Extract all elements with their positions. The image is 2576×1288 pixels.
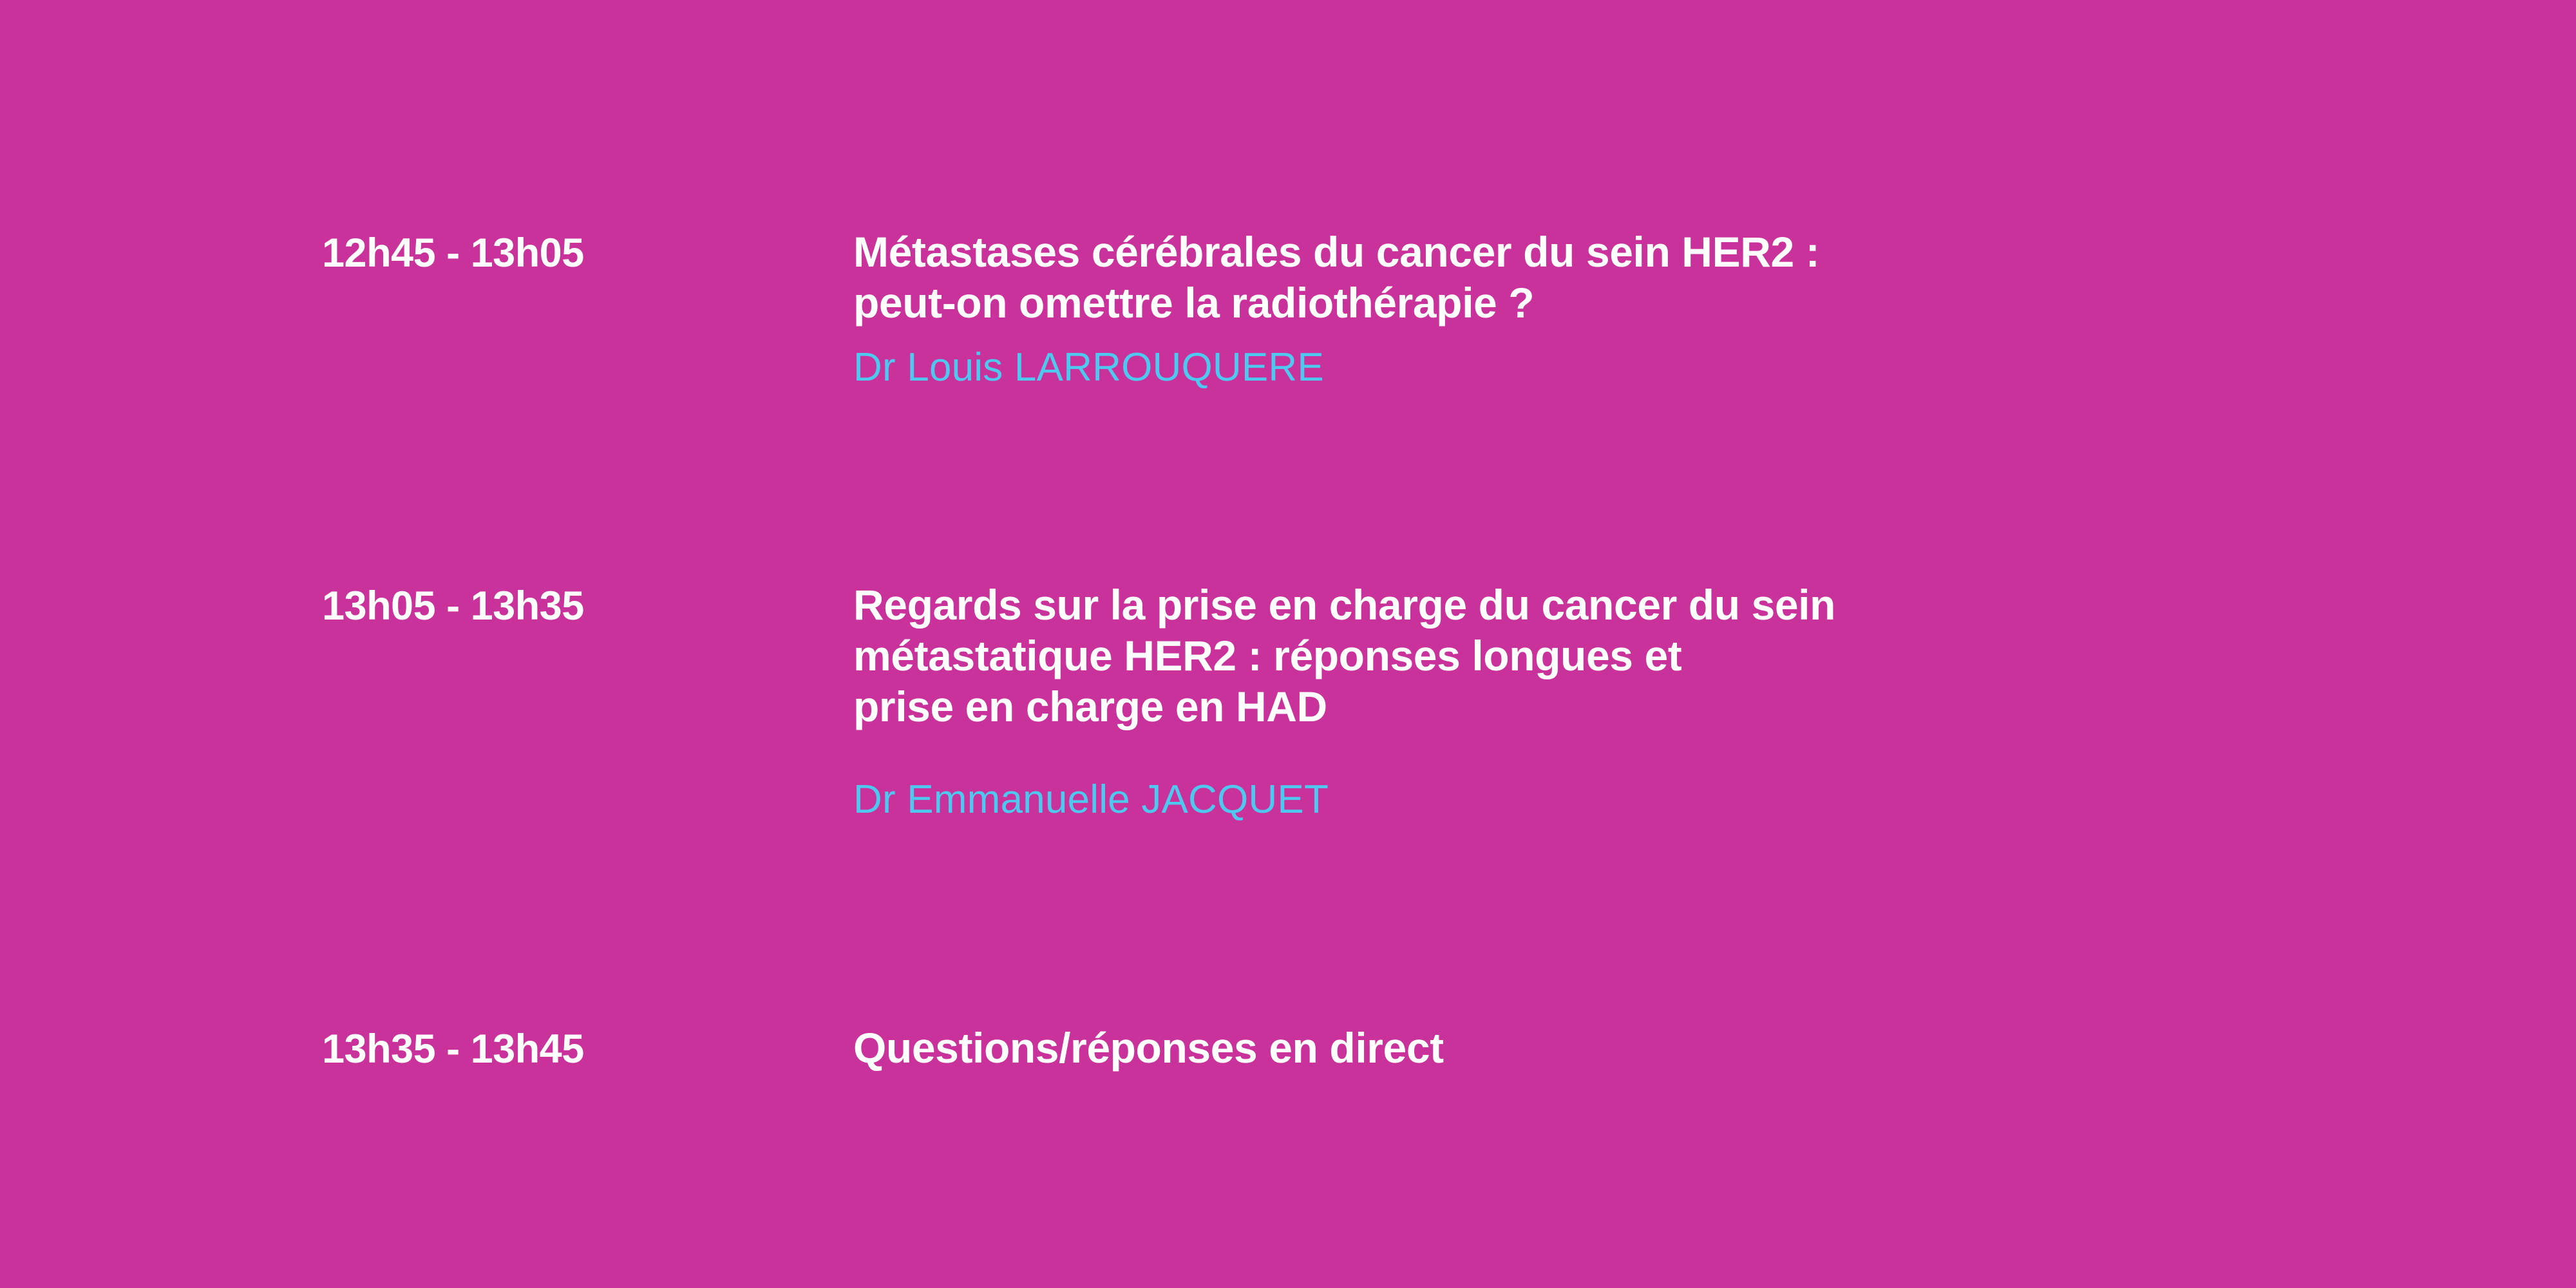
- session-time: 13h05 - 13h35: [322, 580, 853, 627]
- session-title-line: Regards sur la prise en charge du cancer…: [853, 580, 2479, 630]
- schedule-row: 13h35 - 13h45 Questions/réponses en dire…: [322, 1023, 2479, 1074]
- schedule-row: 13h05 - 13h35 Regards sur la prise en ch…: [322, 580, 2479, 820]
- session-title-line: métastatique HER2 : réponses longues et: [853, 630, 2479, 681]
- session-time: 13h35 - 13h45: [322, 1023, 853, 1070]
- schedule-row: 12h45 - 13h05 Métastases cérébrales du c…: [322, 227, 2479, 388]
- session-title-line: Questions/réponses en direct: [853, 1023, 2479, 1074]
- session-title-line: Métastases cérébrales du cancer du sein …: [853, 227, 2479, 278]
- session-title: Métastases cérébrales du cancer du sein …: [853, 227, 2479, 328]
- session-title: Regards sur la prise en charge du cancer…: [853, 580, 2479, 732]
- session-title-line: prise en charge en HAD: [853, 681, 2479, 732]
- session-body: Questions/réponses en direct: [853, 1023, 2479, 1074]
- session-body: Regards sur la prise en charge du cancer…: [853, 580, 2479, 820]
- program-schedule-slide: 12h45 - 13h05 Métastases cérébrales du c…: [0, 0, 2576, 1288]
- session-body: Métastases cérébrales du cancer du sein …: [853, 227, 2479, 388]
- session-title: Questions/réponses en direct: [853, 1023, 2479, 1074]
- session-speaker: Dr Louis LARROUQUERE: [853, 346, 2479, 388]
- session-speaker: Dr Emmanuelle JACQUET: [853, 779, 2479, 820]
- session-title-line: peut-on omettre la radiothérapie ?: [853, 278, 2479, 328]
- session-time: 12h45 - 13h05: [322, 227, 853, 274]
- schedule-list: 12h45 - 13h05 Métastases cérébrales du c…: [0, 0, 2576, 1288]
